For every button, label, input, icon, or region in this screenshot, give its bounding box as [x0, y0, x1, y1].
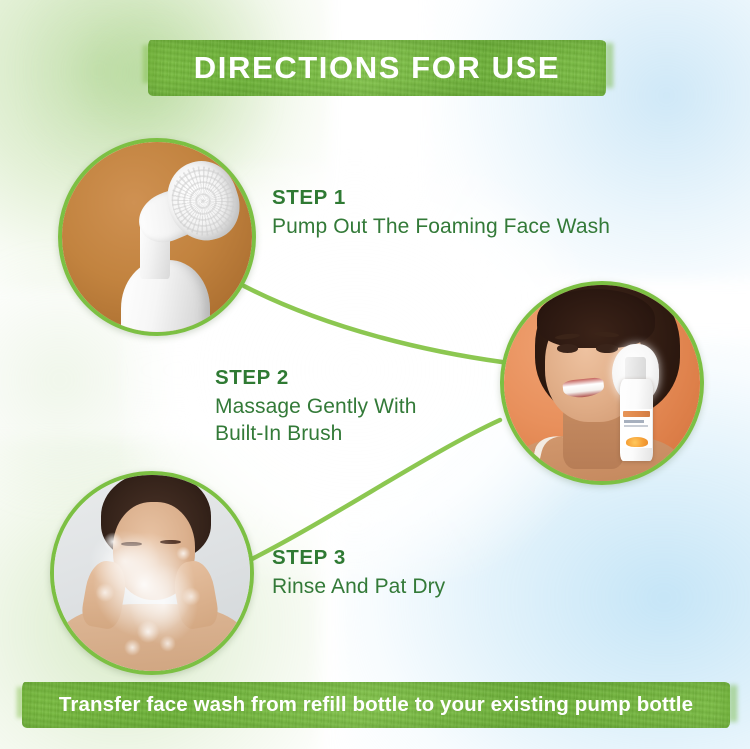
step-1-description: Pump Out The Foaming Face Wash: [272, 214, 672, 241]
step-1-text: STEP 1 Pump Out The Foaming Face Wash: [272, 186, 672, 241]
step-3-image-circle: [50, 471, 254, 675]
directions-for-use-poster: DIRECTIONS FOR USE: [0, 0, 750, 749]
page-title: DIRECTIONS FOR USE: [148, 50, 606, 86]
step-2-image-circle: [500, 281, 704, 485]
footer-note: Transfer face wash from refill bottle to…: [22, 693, 730, 717]
step-2-description: Massage Gently With Built-In Brush: [215, 394, 515, 448]
eye-right: [596, 344, 618, 353]
eye-left: [557, 344, 579, 353]
label-product-name: [624, 420, 644, 423]
step-2-title: STEP 2: [215, 366, 515, 390]
product-bottle: [620, 379, 653, 461]
label-description: [624, 425, 647, 427]
woman-rinsing-face-illustration: [54, 475, 250, 671]
step-2-description-line-1: Massage Gently With: [215, 394, 515, 421]
bottle-label: [621, 409, 652, 449]
woman-applying-foam-illustration: [504, 285, 700, 481]
step-2-text: STEP 2 Massage Gently With Built-In Brus…: [215, 366, 515, 448]
step-1-image-circle: [58, 138, 256, 336]
step-3-text: STEP 3 Rinse And Pat Dry: [272, 546, 592, 601]
brand-logo: [623, 411, 651, 417]
water-splash: [54, 475, 250, 671]
hair-front: [537, 289, 655, 348]
citrus-graphic: [626, 437, 648, 447]
connector-step1-to-step2: [244, 286, 502, 362]
header-banner: DIRECTIONS FOR USE: [148, 40, 606, 96]
step-2-description-line-2: Built-In Brush: [215, 421, 515, 448]
step-3-description: Rinse And Pat Dry: [272, 574, 592, 601]
step-1-title: STEP 1: [272, 186, 672, 210]
pump-dispenser-illustration: [62, 142, 252, 332]
step-3-title: STEP 3: [272, 546, 592, 570]
footer-banner: Transfer face wash from refill bottle to…: [22, 682, 730, 728]
